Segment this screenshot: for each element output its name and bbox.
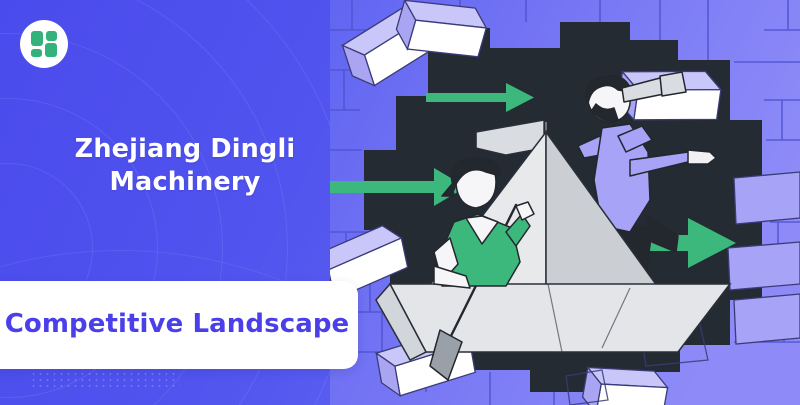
dot-pattern bbox=[30, 371, 180, 389]
topic-card[interactable]: Competitive Landscape bbox=[0, 281, 358, 369]
brand-logo[interactable] bbox=[20, 20, 68, 68]
hero-illustration bbox=[330, 0, 800, 405]
topic-card-title: Competitive Landscape bbox=[0, 309, 349, 341]
four-squares-grid-logo-icon bbox=[30, 30, 58, 58]
slide-canvas: Zhejiang Dingli Machinery Competitive La… bbox=[0, 0, 800, 405]
page-title: Zhejiang Dingli Machinery bbox=[0, 133, 370, 198]
